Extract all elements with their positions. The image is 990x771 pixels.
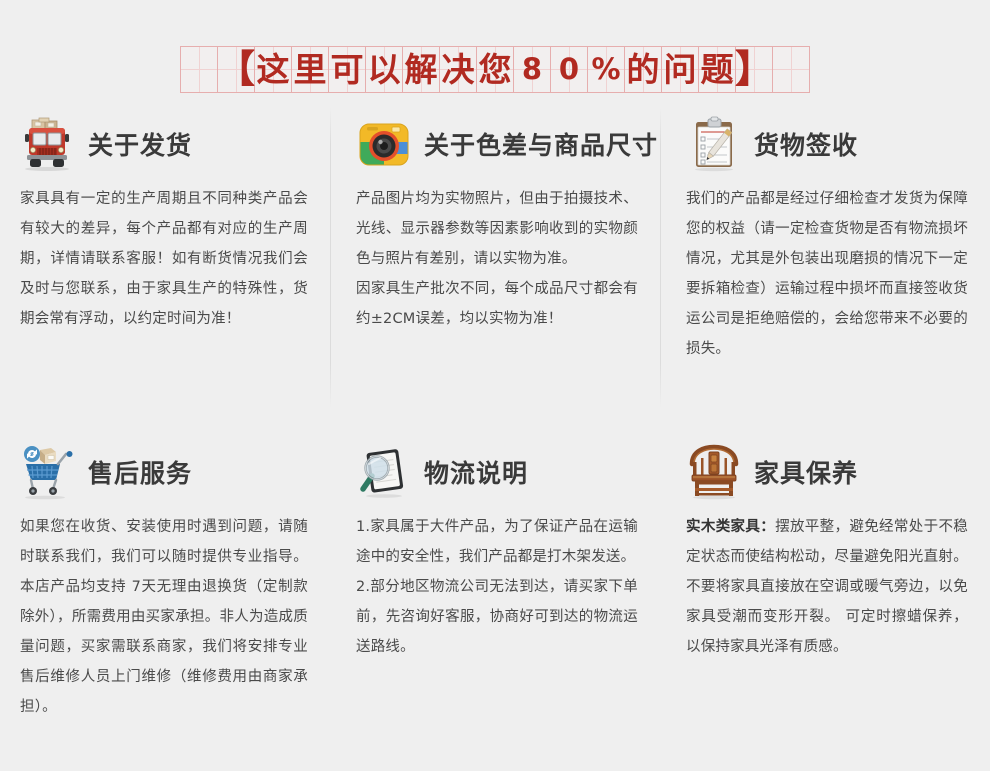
wooden-armchair-icon	[686, 444, 742, 500]
block-paragraph-lead: 实木类家具：	[686, 519, 775, 535]
block-paragraph: 我们的产品都是经过仔细检查才发货为保障您的权益（请一定检查货物是否有物流损坏情况…	[686, 184, 968, 364]
block-header: 物流说明	[356, 440, 638, 504]
block-body: 家具具有一定的生产周期且不同种类产品会有较大的差异，每个产品都有对应的生产周期，…	[20, 184, 308, 334]
block-paragraph: 1.家具属于大件产品，为了保证产品在运输途中的安全性，我们产品都是打木架发送。 …	[356, 512, 638, 662]
block-paragraph: 家具具有一定的生产周期且不同种类产品会有较大的差异，每个产品都有对应的生产周期，…	[20, 184, 308, 334]
title-cell: 】	[736, 47, 773, 93]
block-body: 产品图片均为实物照片，但由于拍摄技术、光线、显示器参数等因素影响收到的实物颜色与…	[356, 184, 638, 334]
block-title: 货物签收	[754, 126, 858, 162]
page-title-banner: 【 这 里 可 以 解 决 您 8 0 % 的 问 题 】	[0, 44, 990, 94]
block-title: 物流说明	[424, 454, 528, 490]
block-header: 关于色差与商品尺寸	[356, 112, 638, 176]
block-paragraph-rest: 摆放平整，避免经常处于不稳定状态而使结构松动，尽量避免阳光直射。不要将家具直接放…	[686, 519, 968, 655]
title-char: 您	[479, 53, 512, 86]
info-block-logistics: 物流说明 1.家具属于大件产品，为了保证产品在运输途中的安全性，我们产品都是打木…	[330, 432, 660, 722]
info-block-shipping: 关于发货 家具具有一定的生产周期且不同种类产品会有较大的差异，每个产品都有对应的…	[0, 112, 330, 432]
title-char: 问	[664, 53, 697, 86]
title-cell: 题	[699, 47, 736, 93]
info-blocks-grid: 关于发货 家具具有一定的生产周期且不同种类产品会有较大的差异，每个产品都有对应的…	[0, 112, 990, 722]
delivery-truck-icon	[20, 116, 76, 172]
title-char: 】	[735, 50, 773, 88]
title-cell: 您	[477, 47, 514, 93]
title-cell: 8	[514, 47, 551, 93]
block-header: 货物签收	[686, 112, 968, 176]
title-char: 8	[522, 55, 542, 84]
block-paragraph: 如果您在收货、安装使用时遇到问题，请随时联系我们，我们可以随时提供专业指导。本店…	[20, 512, 308, 722]
title-char: 题	[701, 53, 734, 86]
title-cell	[181, 47, 218, 93]
title-cell: 决	[440, 47, 477, 93]
title-cell: 可	[329, 47, 366, 93]
block-title: 家具保养	[754, 454, 858, 490]
title-char: 0	[559, 55, 579, 84]
title-cell: 问	[662, 47, 699, 93]
block-title: 售后服务	[88, 454, 192, 490]
clipboard-pencil-icon	[686, 116, 742, 172]
info-block-color-size: 关于色差与商品尺寸 产品图片均为实物照片，但由于拍摄技术、光线、显示器参数等因素…	[330, 112, 660, 432]
title-cell: 这	[255, 47, 292, 93]
title-char: 解	[405, 53, 438, 86]
block-title: 关于发货	[88, 126, 192, 162]
magnifier-document-icon	[356, 444, 412, 500]
title-cell: 解	[403, 47, 440, 93]
title-cell: 里	[292, 47, 329, 93]
info-block-maintenance: 家具保养 实木类家具：摆放平整，避免经常处于不稳定状态而使结构松动，尽量避免阳光…	[660, 432, 990, 722]
info-block-after-sales: 售后服务 如果您在收货、安装使用时遇到问题，请随时联系我们，我们可以随时提供专业…	[0, 432, 330, 722]
title-cell: 【	[218, 47, 255, 93]
title-cell: 以	[366, 47, 403, 93]
block-paragraph: 实木类家具：摆放平整，避免经常处于不稳定状态而使结构松动，尽量避免阳光直射。不要…	[686, 512, 968, 662]
title-char: 这	[257, 53, 290, 86]
title-char: 以	[368, 53, 401, 86]
block-header: 售后服务	[20, 440, 308, 504]
camera-icon	[356, 116, 412, 172]
title-char: %	[591, 55, 620, 84]
block-header: 家具保养	[686, 440, 968, 504]
title-char: 的	[627, 53, 660, 86]
info-block-goods-receipt: 货物签收 我们的产品都是经过仔细检查才发货为保障您的权益（请一定检查货物是否有物…	[660, 112, 990, 432]
title-char: 里	[294, 53, 327, 86]
title-character-grid: 【 这 里 可 以 解 决 您 8 0 % 的 问 题 】	[180, 46, 810, 93]
shopping-cart-return-icon	[20, 444, 76, 500]
block-body: 实木类家具：摆放平整，避免经常处于不稳定状态而使结构松动，尽量避免阳光直射。不要…	[686, 512, 968, 662]
block-body: 我们的产品都是经过仔细检查才发货为保障您的权益（请一定检查货物是否有物流损坏情况…	[686, 184, 968, 364]
title-cell	[773, 47, 810, 93]
title-cell: %	[588, 47, 625, 93]
title-char: 决	[442, 53, 475, 86]
title-char: 可	[331, 53, 364, 86]
block-header: 关于发货	[20, 112, 308, 176]
title-cell: 0	[551, 47, 588, 93]
title-cell: 的	[625, 47, 662, 93]
block-title: 关于色差与商品尺寸	[424, 126, 658, 162]
block-body: 如果您在收货、安装使用时遇到问题，请随时联系我们，我们可以随时提供专业指导。本店…	[20, 512, 308, 722]
block-paragraph: 产品图片均为实物照片，但由于拍摄技术、光线、显示器参数等因素影响收到的实物颜色与…	[356, 184, 638, 334]
block-body: 1.家具属于大件产品，为了保证产品在运输途中的安全性，我们产品都是打木架发送。 …	[356, 512, 638, 662]
title-char: 【	[217, 50, 255, 88]
